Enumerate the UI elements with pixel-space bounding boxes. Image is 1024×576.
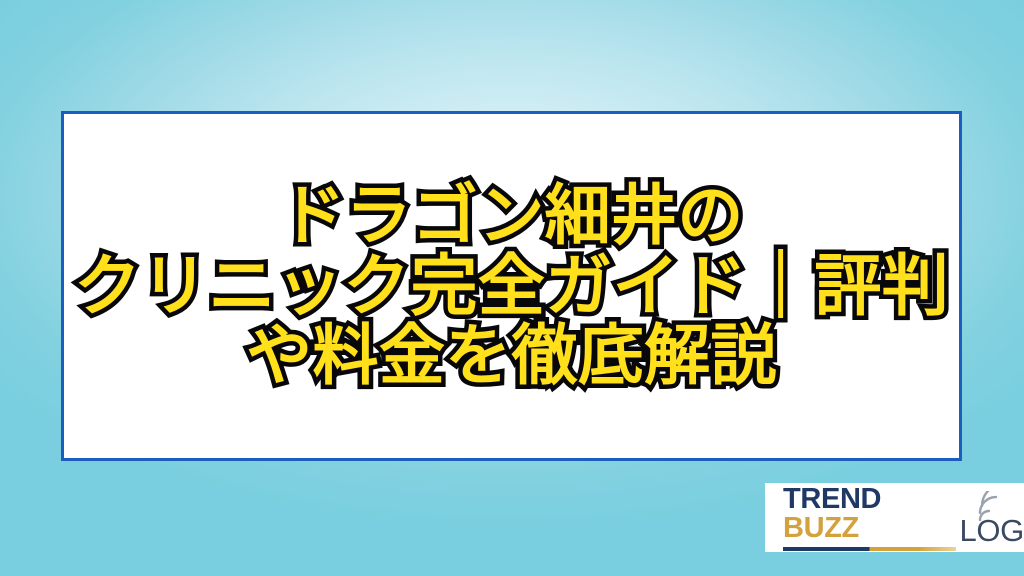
headline-line-1: ドラゴン細井の [64,184,959,247]
wifi-signal-icon [976,491,1010,521]
title-card: ドラゴン細井の クリニック完全ガイド｜評判 や料金を徹底解説 [61,111,962,461]
brand-word-buzz: BUZZ [783,514,859,543]
brand-underline [783,547,956,551]
brand-logo-card: TRENDBUZZ LOG [765,483,1024,552]
headline-line-3: や料金を徹底解説 [64,324,959,387]
headline-line-2: クリニック完全ガイド｜評判 [64,254,959,318]
brand-word-trend: TREND [783,485,881,514]
brand-wordmark: TRENDBUZZ [783,485,956,551]
headline-block: ドラゴン細井の クリニック完全ガイド｜評判 や料金を徹底解説 [64,184,959,387]
thumbnail-canvas: ドラゴン細井の クリニック完全ガイド｜評判 や料金を徹底解説 TRENDBUZZ… [0,0,1024,576]
